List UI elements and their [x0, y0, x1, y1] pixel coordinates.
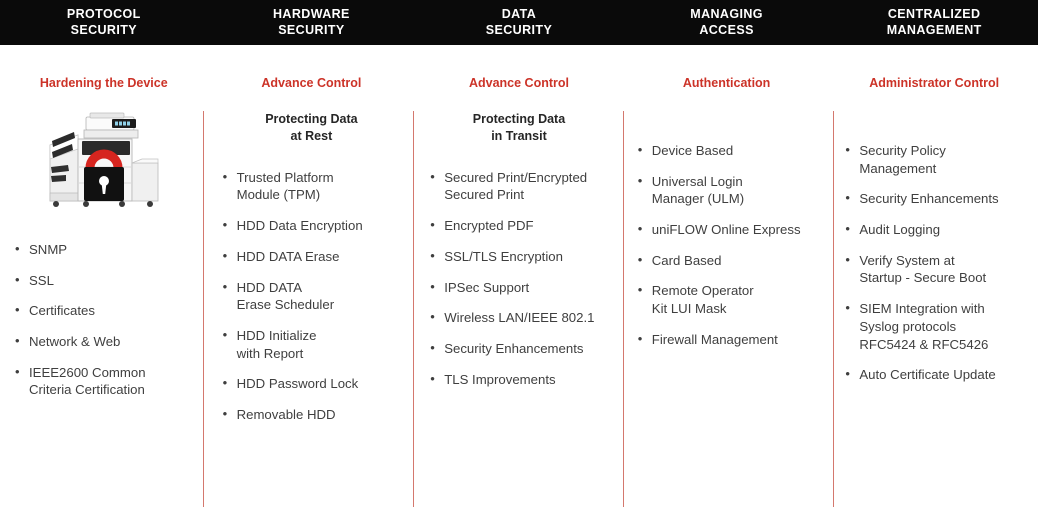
subtitle-line1: Protecting Data	[429, 111, 609, 128]
feature-list-item-line: Encrypted PDF	[444, 217, 609, 235]
feature-list-item-line: HDD DATA Erase	[237, 248, 402, 266]
header-label-line1: HARDWARE	[273, 7, 350, 23]
feature-list-item-line: Device Based	[652, 142, 817, 160]
feature-list-item-line: Secured Print/Encrypted	[444, 169, 609, 187]
feature-list-item-line: uniFLOW Online Express	[652, 221, 817, 239]
feature-columns-container: Hardening the Device	[0, 45, 1038, 495]
feature-list-data-security: Secured Print/EncryptedSecured PrintEncr…	[429, 169, 609, 389]
feature-list-item-line: RFC5424 & RFC5426	[859, 336, 1024, 354]
feature-list-managing-access: Device BasedUniversal LoginManager (ULM)…	[637, 142, 817, 349]
feature-list-item: HDD Data Encryption	[222, 217, 402, 235]
feature-list-item-line: Network & Web	[29, 333, 194, 351]
feature-list-item-line: HDD Password Lock	[237, 375, 402, 393]
feature-list-item-line: Module (TPM)	[237, 186, 402, 204]
feature-list-item-line: SSL	[29, 272, 194, 290]
feature-list-item: SSL	[14, 272, 194, 290]
column-title-hardening-the-device: Hardening the Device	[14, 45, 194, 91]
header-label-line1: MANAGING	[690, 7, 763, 23]
header-label-line1: DATA	[502, 7, 536, 23]
column-title-authentication: Authentication	[637, 45, 817, 91]
feature-list-item-line: SIEM Integration with	[859, 300, 1024, 318]
feature-list-item: IPSec Support	[429, 279, 609, 297]
column-subtitle-protecting-data-in-transit: Protecting Data in Transit	[429, 91, 609, 145]
feature-list-item: Security Enhancements	[844, 190, 1024, 208]
subtitle-line2: in Transit	[429, 128, 609, 145]
feature-list-item: Certificates	[14, 302, 194, 320]
feature-list-item-line: Management	[859, 160, 1024, 178]
feature-list-item-line: with Report	[237, 345, 402, 363]
header-label-line2: MANAGEMENT	[887, 23, 982, 39]
feature-list-item: Card Based	[637, 252, 817, 270]
column-protocol-security: Hardening the Device	[0, 45, 208, 495]
feature-list-item-line: Manager (ULM)	[652, 190, 817, 208]
feature-list-item-line: Trusted Platform	[237, 169, 402, 187]
feature-list-item: SIEM Integration withSyslog protocolsRFC…	[844, 300, 1024, 353]
feature-list-item-line: Security Enhancements	[859, 190, 1024, 208]
feature-list-item: Secured Print/EncryptedSecured Print	[429, 169, 609, 204]
feature-list-item-line: SSL/TLS Encryption	[444, 248, 609, 266]
feature-list-item-line: IPSec Support	[444, 279, 609, 297]
column-title-advance-control: Advance Control	[429, 45, 609, 91]
feature-list-item-line: Remote Operator	[652, 282, 817, 300]
column-managing-access: Authentication Device BasedUniversal Log…	[623, 45, 831, 495]
feature-list-item-line: HDD Data Encryption	[237, 217, 402, 235]
feature-list-item-line: SNMP	[29, 241, 194, 259]
feature-list-item-line: Firewall Management	[652, 331, 817, 349]
subtitle-line1: Protecting Data	[222, 111, 402, 128]
feature-list-item: Auto Certificate Update	[844, 366, 1024, 384]
header-cell-protocol-security: PROTOCOL SECURITY	[0, 0, 208, 45]
feature-list-item: Security PolicyManagement	[844, 142, 1024, 177]
header-cell-centralized-management: CENTRALIZED MANAGEMENT	[830, 0, 1038, 45]
feature-list-item: Network & Web	[14, 333, 194, 351]
feature-list-item: Firewall Management	[637, 331, 817, 349]
feature-list-item-line: Startup - Secure Boot	[859, 269, 1024, 287]
header-label-line2: SECURITY	[486, 23, 552, 39]
feature-list-item: HDD Initializewith Report	[222, 327, 402, 362]
feature-list-item: Audit Logging	[844, 221, 1024, 239]
feature-list-item-line: Security Policy	[859, 142, 1024, 160]
feature-list-item: SSL/TLS Encryption	[429, 248, 609, 266]
feature-list-item: Remote OperatorKit LUI Mask	[637, 282, 817, 317]
feature-list-item-line: HDD Initialize	[237, 327, 402, 345]
header-cell-hardware-security: HARDWARE SECURITY	[208, 0, 416, 45]
feature-list-item-line: Erase Scheduler	[237, 296, 402, 314]
header-label-line2: ACCESS	[699, 23, 754, 39]
feature-list-item: SNMP	[14, 241, 194, 259]
feature-list-item: Removable HDD	[222, 406, 402, 424]
column-data-security: Advance Control Protecting Data in Trans…	[415, 45, 623, 495]
subtitle-line2: at Rest	[222, 128, 402, 145]
header-label-line2: SECURITY	[278, 23, 344, 39]
feature-list-item: TLS Improvements	[429, 371, 609, 389]
header-cell-managing-access: MANAGING ACCESS	[623, 0, 831, 45]
feature-list-item-line: Card Based	[652, 252, 817, 270]
header-label-line1: PROTOCOL	[67, 7, 141, 23]
feature-list-item: HDD Password Lock	[222, 375, 402, 393]
feature-list-item-line: Verify System at	[859, 252, 1024, 270]
feature-list-item: HDD DATAErase Scheduler	[222, 279, 402, 314]
feature-list-item-line: Security Enhancements	[444, 340, 609, 358]
feature-list-item-line: Kit LUI Mask	[652, 300, 817, 318]
feature-list-item-line: Auto Certificate Update	[859, 366, 1024, 384]
column-hardware-security: Advance Control Protecting Data at Rest …	[208, 45, 416, 495]
category-header-band: PROTOCOL SECURITY HARDWARE SECURITY DATA…	[0, 0, 1038, 45]
feature-list-item-line: IEEE2600 Common	[29, 364, 194, 382]
multifunction-printer-padlock-icon	[38, 105, 170, 215]
feature-list-item-line: Certificates	[29, 302, 194, 320]
feature-list-item: Trusted PlatformModule (TPM)	[222, 169, 402, 204]
feature-list-item: HDD DATA Erase	[222, 248, 402, 266]
feature-list-item: Verify System atStartup - Secure Boot	[844, 252, 1024, 287]
feature-list-item: uniFLOW Online Express	[637, 221, 817, 239]
feature-list-item-line: Syslog protocols	[859, 318, 1024, 336]
header-label-line1: CENTRALIZED	[888, 7, 981, 23]
feature-list-item: Wireless LAN/IEEE 802.1	[429, 309, 609, 327]
feature-list-item-line: Secured Print	[444, 186, 609, 204]
feature-list-item-line: Wireless LAN/IEEE 802.1	[444, 309, 609, 327]
feature-list-item-line: TLS Improvements	[444, 371, 609, 389]
feature-list-item: IEEE2600 CommonCriteria Certification	[14, 364, 194, 399]
header-cell-data-security: DATA SECURITY	[415, 0, 623, 45]
feature-list-item-line: Universal Login	[652, 173, 817, 191]
feature-list-hardware-security: Trusted PlatformModule (TPM)HDD Data Enc…	[222, 169, 402, 424]
feature-list-item: Universal LoginManager (ULM)	[637, 173, 817, 208]
feature-list-item-line: HDD DATA	[237, 279, 402, 297]
feature-list-item: Security Enhancements	[429, 340, 609, 358]
feature-list-item: Encrypted PDF	[429, 217, 609, 235]
feature-list-protocol-security: SNMPSSLCertificatesNetwork & WebIEEE2600…	[14, 241, 194, 399]
feature-list-item-line: Audit Logging	[859, 221, 1024, 239]
column-centralized-management: Administrator Control Security PolicyMan…	[830, 45, 1038, 495]
feature-list-item-line: Criteria Certification	[29, 381, 194, 399]
column-subtitle-protecting-data-at-rest: Protecting Data at Rest	[222, 91, 402, 145]
column-title-advance-control: Advance Control	[222, 45, 402, 91]
feature-list-item-line: Removable HDD	[237, 406, 402, 424]
column-title-administrator-control: Administrator Control	[844, 45, 1024, 91]
feature-list-item: Device Based	[637, 142, 817, 160]
feature-list-centralized-management: Security PolicyManagementSecurity Enhanc…	[844, 142, 1024, 384]
header-label-line2: SECURITY	[71, 23, 137, 39]
